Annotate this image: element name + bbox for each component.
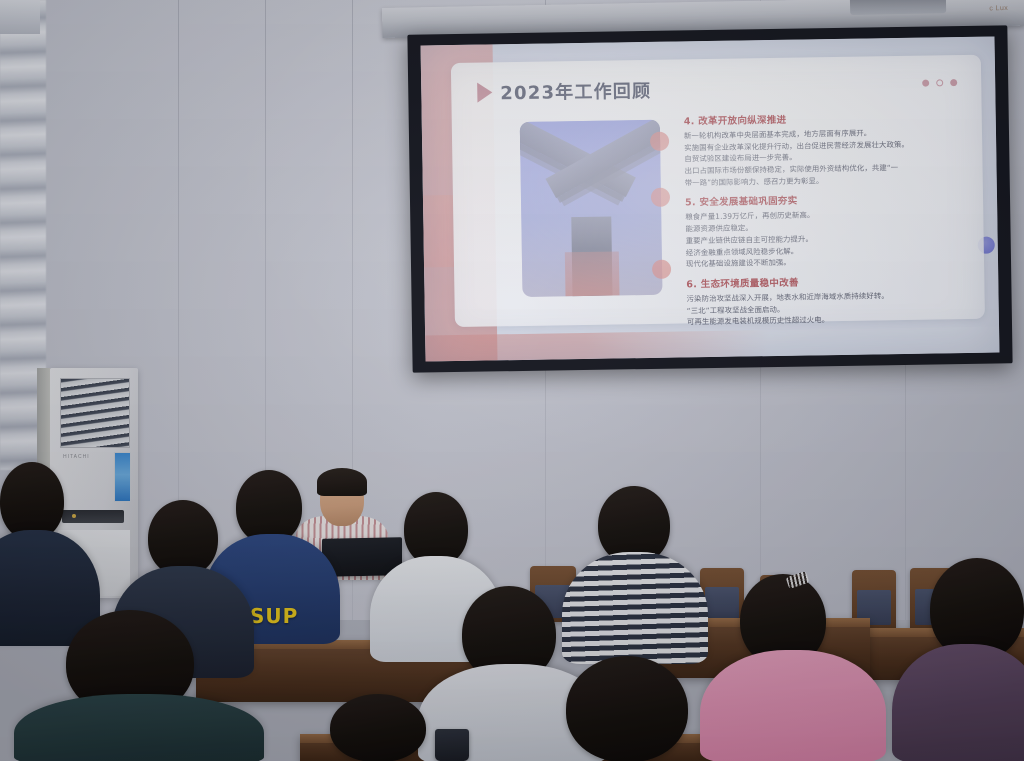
bullet-dot-5 — [651, 188, 670, 207]
slide-section-4: 4. 改革开放向纵深推进 新一轮机构改革中央层面基本完成，地方层面有序展开。 实… — [684, 109, 957, 189]
audience-torso-pink — [700, 650, 886, 761]
audience-head — [236, 470, 302, 544]
audience-head — [566, 656, 688, 761]
slide-section-6: 6. 生态环境质量稳中改善 污染防治攻坚战深入开展，地表水和近岸海域水质持续好转… — [686, 272, 959, 328]
slide-pager-dots — [922, 79, 957, 87]
audience-head — [148, 500, 218, 576]
slide-photo-temple-roof — [520, 120, 663, 297]
audience-head — [404, 492, 468, 566]
slide-title-row: 2023年工作回顾 — [477, 77, 651, 106]
ac-louver-grille — [60, 378, 130, 448]
bullet-dot-6 — [652, 260, 671, 279]
ac-blue-label — [114, 452, 131, 502]
chair-cushion — [705, 587, 739, 619]
audience-head — [0, 462, 64, 540]
slide-text-column: 4. 改革开放向纵深推进 新一轮机构改革中央层面基本完成，地方层面有序展开。 实… — [684, 109, 959, 334]
photo-haze — [520, 120, 663, 297]
audience-head — [330, 694, 426, 761]
drinking-cup[interactable] — [435, 729, 469, 761]
slide-section-5: 5. 安全发展基础巩固夯实 粮食产量1.39万亿斤，再创历史新高。 能源资源供应… — [685, 191, 958, 271]
curtain-rail — [0, 0, 40, 34]
presenter-hair — [317, 468, 367, 496]
bullet-dot-4 — [650, 132, 669, 151]
ac-power-indicator — [72, 514, 76, 518]
play-triangle-icon — [477, 82, 492, 102]
audience-torso-striped — [562, 552, 708, 664]
projection-screen: 2023年工作回顾 — [407, 25, 1012, 372]
pager-dot-2 — [936, 79, 943, 86]
shirt-graphic-text: SUP — [250, 604, 298, 628]
section-6-heading: 6. 生态环境质量稳中改善 — [686, 272, 958, 290]
screen-surface: 2023年工作回顾 — [421, 37, 1000, 362]
meeting-room-photo: c Lux 2023年工作回顾 — [0, 0, 1024, 761]
pager-dot-3 — [950, 79, 957, 86]
section-5-heading: 5. 安全发展基础巩固夯实 — [685, 191, 957, 209]
slide-title: 2023年工作回顾 — [500, 77, 651, 105]
ac-brand-mark: HITACHI — [63, 454, 90, 460]
pager-dot-1 — [922, 80, 929, 87]
casing-bracket — [850, 0, 946, 15]
slide-content-card: 2023年工作回顾 — [451, 55, 985, 327]
audience-torso-teal — [14, 694, 264, 761]
section-4-heading: 4. 改革开放向纵深推进 — [684, 109, 956, 127]
casing-brand-mark: c Lux — [989, 5, 1008, 12]
